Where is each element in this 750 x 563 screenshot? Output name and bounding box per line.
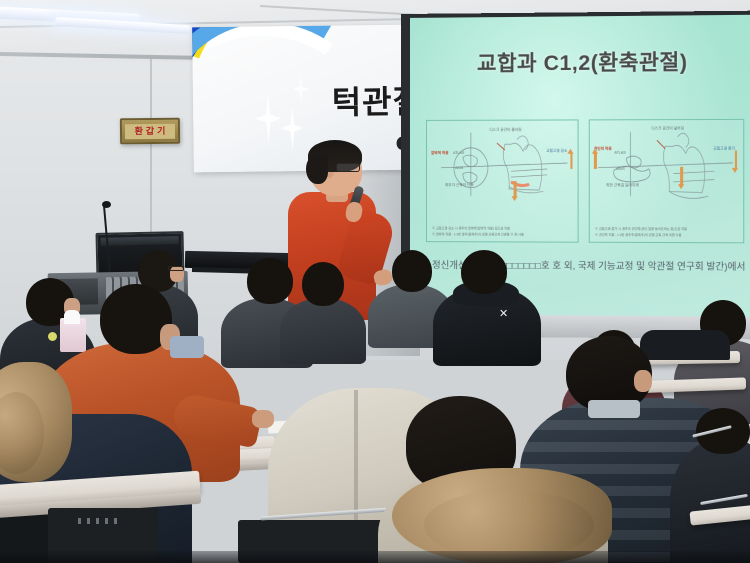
diagram-notes-right: ※ 교합고경 증가 시 경추의 견인력(견인 힘을 늘어뜨리는 힘)으로 작용 … [595,227,739,239]
diagram-label: AXIS [616,167,624,171]
wall-plaque-sign: 환 갑 기 [120,118,180,145]
diagram-note: ※ 압박적 작용 : 1,2번 경추(환축추)의 관절 근육간격 간경절 ※ 축… [432,232,573,238]
gooseneck-microphone-head [102,201,111,208]
speaker-hand-second [373,268,394,286]
person-shoulders [280,298,366,364]
wall-joint [150,58,152,258]
wall-sign-char: 갑 [146,126,154,135]
wall-sign-char: 환 [135,127,143,136]
lecture-photo-scene: 환 갑 기 턱관절 교합과 C1,2(환축관절) [0,0,750,563]
chair-back [640,330,730,360]
tissue-sheet [64,310,80,324]
shirt-collar [588,400,640,418]
x-logo-icon: ✕ [499,310,508,319]
fur-hood-trim [424,490,594,560]
diagram-label: ATLAS [614,151,625,155]
person-head [302,262,344,306]
diagram-label: 좌전 근육길 늘어지게 [606,183,639,188]
wall-sign-char: 기 [157,126,165,135]
diagram-panel-left: 압박적 작용 디스크 공간이 좁아짐 교합고경 감소 ATLAS AXIS 좌우… [426,119,579,242]
monitor-bezel [101,236,179,246]
glasses-icon [168,266,184,271]
diagram-label: AXIS [455,166,463,170]
diagram-label: 디스크 공간이 좁아짐 [489,128,521,133]
force-arrow-down [680,167,683,185]
shirt-collar [170,336,204,358]
glasses-icon [336,163,360,172]
speaker-hair-side [306,154,328,184]
person-hand [252,410,274,428]
foreground-shadow [0,551,750,563]
diagram-label: 교합고경 감소 [546,149,567,154]
diagram-notes-left: ※ 교합고경 감소 시 경추의 압박력(압박적 작용) 힘으로 작용 ※ 압박적… [432,226,573,238]
slide-diagram-panels: 압박적 작용 디스크 공간이 좁아짐 교합고경 감소 ATLAS AXIS 좌우… [426,119,744,243]
diagram-label: 압박적 작용 [431,151,449,156]
diagram-label: 교합고경 증가 [713,146,735,151]
diagram-note: ※ 견인력 작용 : 1,2번 경추추(환축추)의 관절 근육 간격 이완 사용 [595,233,739,239]
force-arrow-down [514,181,517,197]
diagram-panel-right: 견인력 작용 디스크 공간이 넓어짐 교합고경 증가 ATLAS AXIS 좌전… [589,119,744,243]
chair-perforation [78,518,122,524]
slide-title: 교합과 C1,2(환축관절) [410,45,750,78]
force-arrow-down [734,151,737,169]
force-arrow-up [570,153,573,169]
person-head [247,258,293,304]
jaw-skull-diagram-left [427,120,578,215]
diagram-label: 디스크 공간이 넓어짐 [651,126,684,131]
person-ear [634,370,652,392]
small-object [48,332,57,341]
person-head [461,250,507,294]
diagram-label: 좌우각 근육의 단축 [445,183,474,188]
diagram-label: ATLAS [453,151,464,155]
force-arrow-up [594,153,597,169]
jaw-skull-diagram-right [590,120,743,215]
person-head [392,250,432,292]
